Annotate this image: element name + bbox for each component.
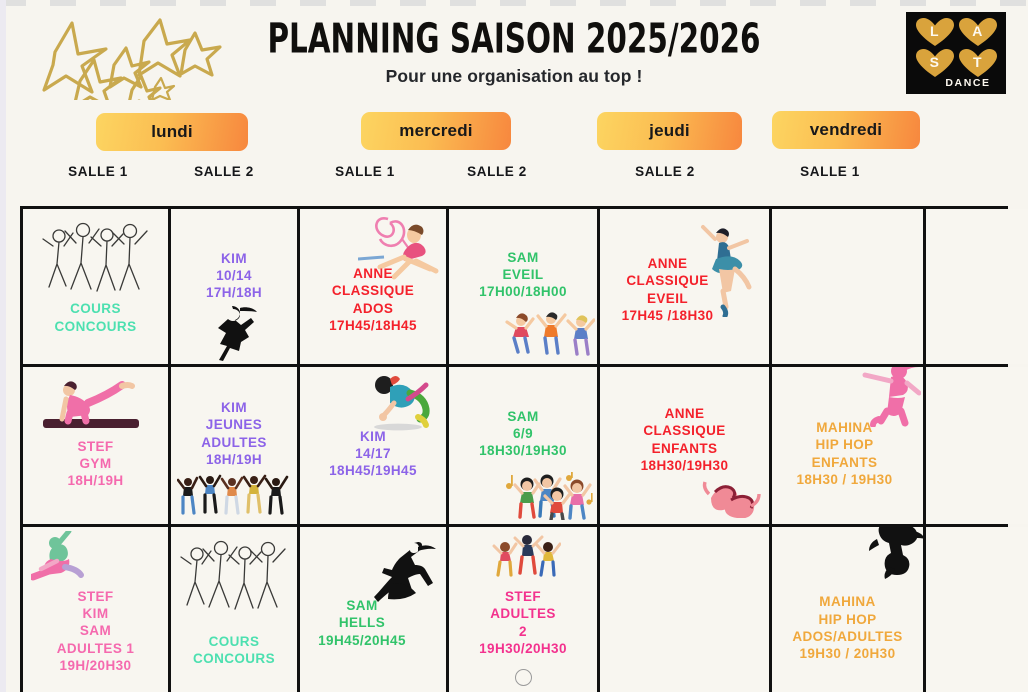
three-kids-dancing-icon — [505, 310, 595, 358]
cell-line: GYM — [67, 455, 123, 472]
cell-line: MAHINA — [792, 593, 902, 610]
logo-wordmark: DANCE — [945, 77, 990, 89]
cell-text-r3c4: STEF ADULTES 2 19H30/20H30 — [479, 588, 567, 657]
jumping-dancer-silhouette-icon — [203, 305, 259, 363]
day-tabs: lundi mercredi jeudi vendredi — [0, 108, 1028, 158]
page-title: PLANNING SAISON 2025/2026 — [267, 14, 760, 63]
schedule-cell-r2c5[interactable]: ANNE CLASSIQUE ENFANTS 18H30/19H30 — [600, 367, 769, 524]
schedule-cell-r2c3[interactable]: KIM 14/17 18H45/19H45 — [300, 367, 446, 524]
five-dancers-row-icon — [177, 474, 289, 516]
schedule-cell-r2c1[interactable]: STEF GYM 18H/19H — [23, 367, 168, 524]
schedule-cell-r2c6[interactable]: MAHINA HIP HOP ENFANTS 18H30 / 19H30 — [772, 367, 923, 524]
cell-line: ADULTES 1 — [57, 640, 135, 657]
schedule-cell-r1c1[interactable]: COURS CONCOURS — [23, 209, 168, 364]
cell-line: HIP HOP — [796, 436, 892, 453]
logo-letter: T — [957, 48, 999, 78]
cell-line: 10/14 — [206, 267, 262, 284]
cell-text-r1c4: SAM EVEIL 17H00/18H00 — [479, 249, 567, 301]
breakdancer-colorful-icon — [364, 369, 438, 433]
schedule-cell-r2c4[interactable]: SAM 6/9 18H30/19H30 — [449, 367, 597, 524]
four-children-dancing-notes-icon — [505, 472, 593, 520]
cell-text-r1c3: ANNE CLASSIQUE ADOS 17H45/18H45 — [329, 265, 417, 334]
cell-text-r2c6: MAHINA HIP HOP ENFANTS 18H30 / 19H30 — [796, 419, 892, 488]
cell-text-r3c3: SAM HELLS 19H45/20H45 — [318, 597, 406, 649]
heart-letter-s: S — [914, 48, 956, 78]
schedule-grid: COURS CONCOURS KIM 10/14 17H/18H — [20, 206, 1008, 692]
schedule-cell-r3c2[interactable]: COURS CONCOURS — [171, 527, 297, 692]
heart-letter-t: T — [957, 48, 999, 78]
cell-line: 18H30 / 19H30 — [796, 471, 892, 488]
cell-line: 18H30/19H30 — [479, 442, 567, 459]
cell-line: 19H30 / 20H30 — [792, 645, 902, 662]
cell-line: EVEIL — [479, 266, 567, 283]
cell-line: ADULTES — [201, 434, 267, 451]
cell-line: COURS — [55, 300, 137, 317]
room-label-mercredi-salle2: SALLE 2 — [467, 164, 527, 179]
cell-line: KIM — [57, 605, 135, 622]
day-tab-lundi[interactable]: lundi — [96, 113, 248, 151]
cell-line: ANNE — [622, 255, 714, 272]
cell-text-r2c5: ANNE CLASSIQUE ENFANTS 18H30/19H30 — [641, 405, 729, 474]
schedule-cell-r1c3[interactable]: ANNE CLASSIQUE ADOS 17H45/18H45 — [300, 209, 446, 364]
logo-hearts: L A S T — [914, 17, 999, 78]
cell-line: EVEIL — [622, 290, 714, 307]
schedule-cell-r3c3[interactable]: SAM HELLS 19H45/20H45 — [300, 527, 446, 692]
page-header: L A S T DANCE PLANNING SAISON 2025/2026 — [0, 0, 1028, 108]
cell-line: HELLS — [318, 614, 406, 631]
pink-green-floor-dancer-icon — [31, 531, 95, 587]
cell-line: ADOS/ADULTES — [792, 628, 902, 645]
logo-letter: S — [914, 48, 956, 78]
three-dancers-color-icon — [491, 535, 561, 579]
cell-line: ENFANTS — [796, 454, 892, 471]
cell-line: 17H45/18H45 — [329, 317, 417, 334]
cell-line: 19H30/20H30 — [479, 640, 567, 657]
heart-letter-l: L — [914, 17, 956, 47]
cell-line: 18H/19H — [67, 472, 123, 489]
room-label-mercredi-salle1: SALLE 1 — [335, 164, 395, 179]
schedule-cell-r1c2[interactable]: KIM 10/14 17H/18H — [171, 209, 297, 364]
cell-text-r2c2: KIM JEUNES ADULTES 18H/19H — [201, 399, 267, 468]
cell-text-r3c2: COURS CONCOURS — [193, 633, 275, 668]
schedule-cell-r3c5-empty[interactable] — [600, 527, 769, 692]
cell-line: ANNE — [329, 265, 417, 282]
cell-line: HIP HOP — [792, 611, 902, 628]
schedule-cell-r3c1[interactable]: STEF KIM SAM ADULTES 1 19H/20H30 — [23, 527, 168, 692]
schedule-cell-r2c2[interactable]: KIM JEUNES ADULTES 18H/19H — [171, 367, 297, 524]
cell-line: 19H45/20H45 — [318, 632, 406, 649]
cell-line: ENFANTS — [641, 440, 729, 457]
breakdance-silhouette-black-icon — [865, 527, 923, 579]
cell-line: KIM — [329, 428, 417, 445]
cell-line: 2 — [479, 623, 567, 640]
cell-line: STEF — [479, 588, 567, 605]
cell-text-r3c6: MAHINA HIP HOP ADOS/ADULTES 19H30 / 20H3… — [792, 593, 902, 662]
schedule-cell-r3c4[interactable]: STEF ADULTES 2 19H30/20H30 — [449, 527, 597, 692]
day-tab-jeudi[interactable]: jeudi — [597, 112, 742, 150]
cell-line: 6/9 — [479, 425, 567, 442]
cell-text-r2c1: STEF GYM 18H/19H — [67, 438, 123, 490]
cell-line: SAM — [57, 622, 135, 639]
room-label-lundi-salle2: SALLE 2 — [194, 164, 254, 179]
cell-line: STEF — [67, 438, 123, 455]
cell-line: MAHINA — [796, 419, 892, 436]
cell-line: STEF — [57, 588, 135, 605]
cell-text-r1c5: ANNE CLASSIQUE EVEIL 17H45 /18H30 — [622, 255, 714, 324]
cell-text-r1c2: KIM 10/14 17H/18H — [206, 250, 262, 302]
cell-text-r1c1: COURS CONCOURS — [55, 300, 137, 335]
cell-line: ADULTES — [479, 605, 567, 622]
room-label-vendredi-salle1: SALLE 1 — [800, 164, 860, 179]
schedule-cell-r1c4[interactable]: SAM EVEIL 17H00/18H00 — [449, 209, 597, 364]
schedule-cell-r3c7-empty[interactable] — [926, 527, 1028, 692]
day-tab-mercredi[interactable]: mercredi — [361, 112, 511, 150]
cell-line: SAM — [318, 597, 406, 614]
cell-line: KIM — [201, 399, 267, 416]
cell-line: 18H45/19H45 — [329, 462, 417, 479]
cell-line: 17H45 /18H30 — [622, 307, 714, 324]
cell-line: 14/17 — [329, 445, 417, 462]
cell-line: CONCOURS — [193, 650, 275, 667]
cell-line: CLASSIQUE — [622, 272, 714, 289]
cell-line: SAM — [479, 408, 567, 425]
schedule-cell-r2c7-empty[interactable] — [926, 367, 1028, 524]
gold-stars-icon — [22, 8, 252, 100]
schedule-cell-r1c7-empty[interactable] — [926, 209, 1028, 364]
day-tab-vendredi[interactable]: vendredi — [772, 111, 920, 149]
yoga-pose-woman-mat-icon — [39, 375, 149, 431]
schedule-cell-r3c6[interactable]: MAHINA HIP HOP ADOS/ADULTES 19H30 / 20H3… — [772, 527, 923, 692]
room-label-lundi-salle1: SALLE 1 — [68, 164, 128, 179]
line-art-dancers-group-icon — [35, 219, 157, 303]
cell-line: CLASSIQUE — [329, 282, 417, 299]
cell-line: 17H00/18H00 — [479, 283, 567, 300]
cell-line: CLASSIQUE — [641, 422, 729, 439]
loading-spinner — [515, 669, 532, 686]
logo-letter: L — [914, 17, 956, 47]
schedule-cell-r1c6-empty[interactable] — [772, 209, 923, 364]
cell-line: ANNE — [641, 405, 729, 422]
cell-line: 18H/19H — [201, 451, 267, 468]
cell-text-r3c1: STEF KIM SAM ADULTES 1 19H/20H30 — [57, 588, 135, 674]
cell-line: CONCOURS — [55, 318, 137, 335]
cell-line: 17H/18H — [206, 284, 262, 301]
cell-line: ADOS — [329, 300, 417, 317]
room-label-jeudi-salle2: SALLE 2 — [635, 164, 695, 179]
planning-page: L A S T DANCE PLANNING SAISON 2025/2026 — [0, 0, 1028, 692]
line-art-dancers-group-icon — [175, 535, 293, 619]
logo-letter: A — [957, 17, 999, 47]
room-labels: SALLE 1 SALLE 2 SALLE 1 SALLE 2 SALLE 2 … — [0, 158, 1028, 192]
schedule-cell-r1c5[interactable]: ANNE CLASSIQUE EVEIL 17H45 /18H30 — [600, 209, 769, 364]
cell-line: KIM — [206, 250, 262, 267]
cell-line: 18H30/19H30 — [641, 457, 729, 474]
cell-line: 19H/20H30 — [57, 657, 135, 674]
heart-letter-a: A — [957, 17, 999, 47]
cell-line: COURS — [193, 633, 275, 650]
ballet-pointe-shoes-icon — [701, 476, 761, 518]
last-dance-logo: L A S T DANCE — [906, 12, 1006, 94]
cell-line: SAM — [479, 249, 567, 266]
cell-text-r2c4: SAM 6/9 18H30/19H30 — [479, 408, 567, 460]
cell-text-r2c3: KIM 14/17 18H45/19H45 — [329, 428, 417, 480]
cell-line: JEUNES — [201, 416, 267, 433]
